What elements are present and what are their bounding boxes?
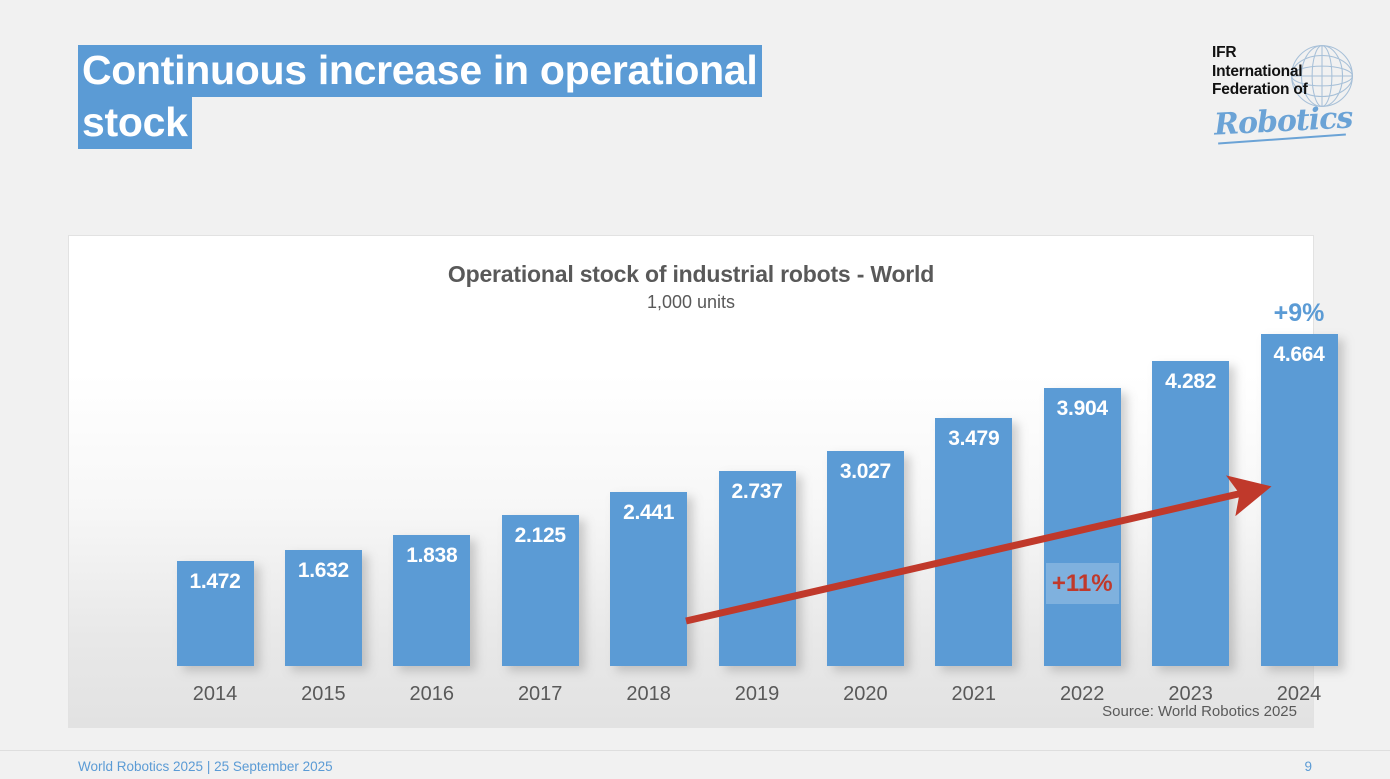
page-title-text: Continuous increase in operational stock: [78, 45, 762, 149]
growth-2022: +11%: [1046, 563, 1119, 604]
ifr-logo-line-2: International: [1212, 63, 1308, 82]
ifr-logo-wordmark: IFR International Federation of: [1212, 44, 1308, 100]
x-axis-label-2014: 2014: [163, 683, 268, 706]
bar-group-2014: 1.4722014: [177, 561, 254, 666]
bar-group-2020: 3.0272020: [827, 451, 904, 666]
x-axis-label-2021: 2021: [921, 683, 1026, 706]
ifr-logo-line-1: IFR: [1212, 44, 1308, 63]
bar-chart-plot-area: 1.47220141.63220151.83820162.12520172.44…: [69, 236, 1315, 729]
footer-divider: [0, 750, 1390, 751]
x-axis-label-2016: 2016: [379, 683, 484, 706]
ifr-logo-line-3: Federation of: [1212, 81, 1308, 100]
chart-source-note: Source: World Robotics 2025: [1102, 703, 1297, 720]
growth-2024: +9%: [1253, 299, 1346, 328]
bar-2022[interactable]: [1044, 388, 1121, 666]
x-axis-label-2017: 2017: [488, 683, 593, 706]
bar-value-2019: 2.737: [719, 480, 796, 504]
bar-group-2023: 4.2822023: [1152, 361, 1229, 666]
bar-value-2020: 3.027: [827, 460, 904, 484]
x-axis-label-2015: 2015: [271, 683, 376, 706]
bar-value-2015: 1.632: [285, 559, 362, 583]
ifr-logo-script: Robotics: [1213, 100, 1353, 142]
chart-panel: Operational stock of industrial robots -…: [68, 235, 1314, 728]
ifr-logo: IFR International Federation of Robotics: [1212, 38, 1362, 148]
bar-group-2019: 2.7372019: [719, 471, 796, 666]
bar-group-2018: 2.4412018: [610, 492, 687, 666]
bar-value-2014: 1.472: [177, 570, 254, 594]
bar-group-2016: 1.8382016: [393, 535, 470, 666]
page-title: Continuous increase in operational stock: [78, 44, 878, 148]
bar-value-2023: 4.282: [1152, 370, 1229, 394]
x-axis-label-2019: 2019: [705, 683, 810, 706]
bar-value-2022: 3.904: [1044, 397, 1121, 421]
x-axis-label-2018: 2018: [596, 683, 701, 706]
bar-value-2018: 2.441: [610, 501, 687, 525]
bar-group-2022: 3.9042022+11%: [1044, 388, 1121, 666]
bar-value-2016: 1.838: [393, 544, 470, 568]
footer-text: World Robotics 2025 | 25 September 2025: [78, 759, 333, 774]
page-number: 9: [1304, 759, 1312, 774]
bar-value-2024: 4.664: [1261, 343, 1338, 367]
bar-2023[interactable]: [1152, 361, 1229, 666]
x-axis-label-2020: 2020: [813, 683, 918, 706]
bar-value-2021: 3.479: [935, 427, 1012, 451]
bar-group-2015: 1.6322015: [285, 550, 362, 666]
bar-group-2017: 2.1252017: [502, 515, 579, 666]
bar-group-2021: 3.4792021: [935, 418, 1012, 666]
bar-2021[interactable]: [935, 418, 1012, 666]
bar-2024[interactable]: [1261, 334, 1338, 666]
bar-group-2024: 4.6642024+9%: [1261, 334, 1338, 666]
bar-value-2017: 2.125: [502, 524, 579, 548]
